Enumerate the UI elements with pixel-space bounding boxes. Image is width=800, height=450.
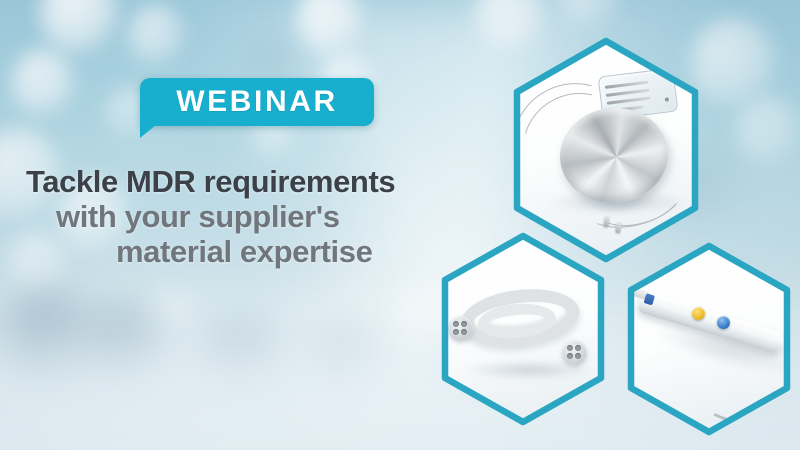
webinar-badge-label: WEBINAR [176,85,338,119]
hex-electrosurgical-pencil [614,238,800,440]
pencil-coag-button-blue [717,316,730,329]
headline-line-3: material expertise [0,236,460,267]
webinar-badge: WEBINAR [140,78,374,126]
headline: Tackle MDR requirements with your suppli… [0,166,460,267]
headline-line-2: with your supplier's [0,201,460,232]
headline-line-1: Tackle MDR requirements [0,166,460,197]
pencil-cut-button-yellow [692,307,705,320]
tubing-end-left [448,316,473,341]
webinar-banner: WEBINAR Tackle MDR requirements with you… [0,0,800,450]
tubing-end-right [562,340,587,365]
